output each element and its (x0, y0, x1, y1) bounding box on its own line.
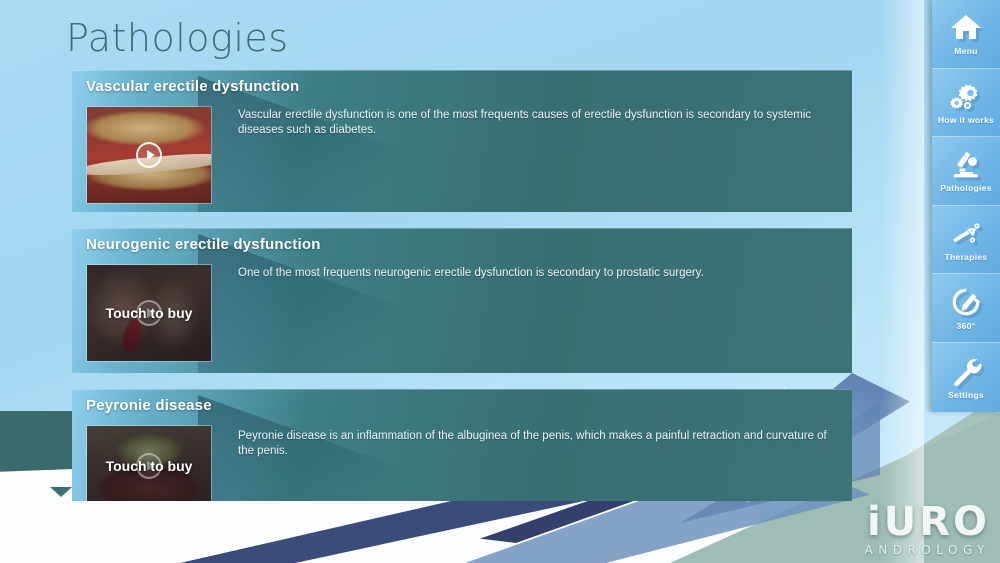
card-description: Vascular erectile dysfunction is one of … (238, 108, 828, 138)
card-title: Vascular erectile dysfunction (72, 70, 852, 101)
sidebar-item-label: Pathologies (940, 183, 991, 193)
sidebar-item-how-it-works[interactable]: How it works (932, 69, 1000, 138)
card-description: One of the most frequents neurogenic ere… (238, 266, 828, 281)
pathology-card[interactable]: Neurogenic erectile dysfunction Touch to… (72, 228, 852, 373)
card-thumbnail[interactable]: Touch to buy (86, 425, 212, 501)
card-title: Peyronie disease (72, 389, 852, 420)
card-description: Peyronie disease is an inflammation of t… (238, 429, 828, 459)
sidebar-edge (924, 0, 932, 412)
microscope-icon (949, 148, 983, 180)
sidebar-item-label: Menu (954, 46, 977, 56)
surgical-tool-icon (949, 217, 983, 249)
pencil-rotate-icon (949, 286, 983, 318)
card-title: Neurogenic erectile dysfunction (72, 228, 852, 259)
play-icon[interactable] (136, 142, 162, 168)
pathology-card[interactable]: Vascular erectile dysfunction Vascular e… (72, 70, 852, 212)
sidebar-item-label: 360° (957, 321, 976, 331)
card-thumbnail[interactable]: Touch to buy (86, 264, 212, 362)
wrench-icon (949, 355, 983, 387)
page-title: Pathologies (66, 16, 289, 60)
sidebar-item-menu[interactable]: Menu (932, 0, 1000, 69)
sidebar-item-settings[interactable]: Settings (932, 343, 1000, 412)
chevron-down-icon[interactable] (50, 487, 72, 497)
sidebar-item-therapies[interactable]: Therapies (932, 206, 1000, 275)
touch-to-buy-label[interactable]: Touch to buy (87, 305, 211, 321)
touch-to-buy-label[interactable]: Touch to buy (87, 458, 211, 474)
home-icon (949, 11, 983, 43)
sidebar-item-label: How it works (938, 115, 994, 125)
sidebar-item-label: Therapies (945, 252, 988, 262)
sidebar-item-360[interactable]: 360° (932, 274, 1000, 343)
gears-icon (949, 80, 983, 112)
sidebar-item-pathologies[interactable]: Pathologies (932, 137, 1000, 206)
sidebar: Menu How it works Path (932, 0, 1000, 412)
card-thumbnail[interactable] (86, 106, 212, 204)
pathology-list: Vascular erectile dysfunction Vascular e… (72, 70, 852, 517)
pathology-card[interactable]: Peyronie disease Touch to buy Peyronie d… (72, 389, 852, 501)
sidebar-item-label: Settings (948, 390, 984, 400)
